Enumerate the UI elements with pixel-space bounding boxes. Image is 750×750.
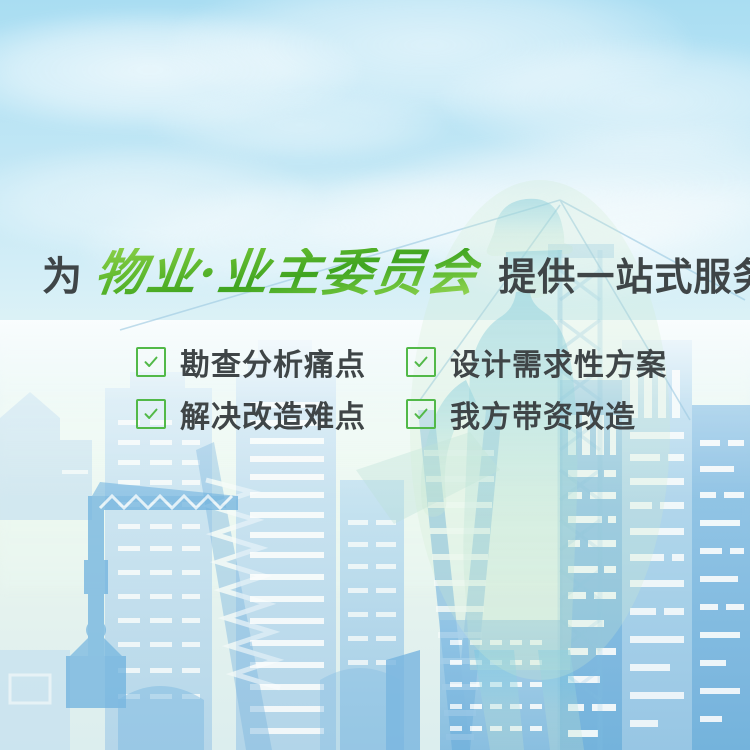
headline-highlight: 物业·业主委员会 xyxy=(89,248,483,298)
headline-prefix: 为 xyxy=(42,257,83,297)
feature-item[interactable]: 我方带资改造 xyxy=(406,388,676,440)
feature-label: 勘查分析痛点 xyxy=(180,340,366,384)
feature-label: 设计需求性方案 xyxy=(450,340,667,384)
checkbox-check-icon[interactable] xyxy=(406,399,436,429)
feature-list: 勘查分析痛点 设计需求性方案 解决改造难点 xyxy=(136,336,676,440)
feature-item[interactable]: 设计需求性方案 xyxy=(406,336,676,388)
headline-suffix: 提供一站式服务 xyxy=(498,259,750,297)
checkbox-check-icon[interactable] xyxy=(136,399,166,429)
feature-label: 我方带资改造 xyxy=(450,392,636,436)
feature-item[interactable]: 勘查分析痛点 xyxy=(136,336,406,388)
promo-banner: 为 物业·业主委员会 提供一站式服务 勘查分析痛点 设计需求性方 xyxy=(0,0,750,750)
banner-content: 为 物业·业主委员会 提供一站式服务 勘查分析痛点 设计需求性方 xyxy=(0,0,750,750)
checkbox-check-icon[interactable] xyxy=(406,347,436,377)
headline: 为 物业·业主委员会 提供一站式服务 xyxy=(42,248,750,298)
feature-label: 解决改造难点 xyxy=(180,392,366,436)
checkbox-check-icon[interactable] xyxy=(136,347,166,377)
feature-item[interactable]: 解决改造难点 xyxy=(136,388,406,440)
